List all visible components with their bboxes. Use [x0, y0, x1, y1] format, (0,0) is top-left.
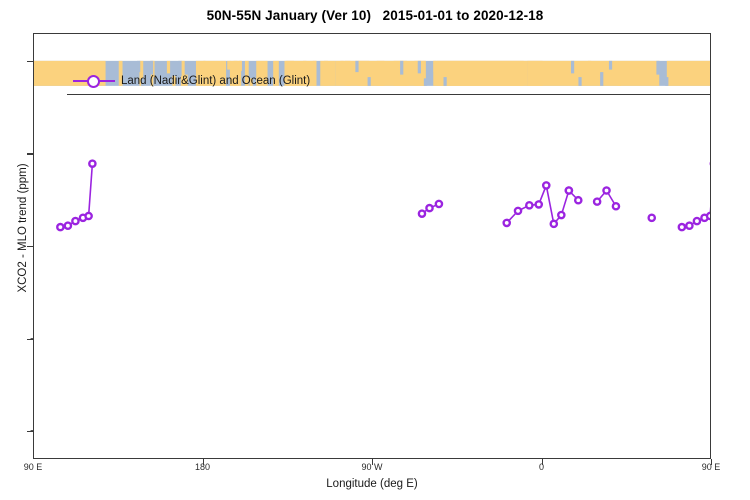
legend: Land (Nadir&Glint) and Ocean (Glint)	[67, 67, 711, 95]
data-point-marker	[613, 203, 619, 209]
data-point-marker	[65, 223, 71, 229]
x-tick-mark	[542, 459, 543, 465]
data-point-marker	[72, 218, 78, 224]
data-point-marker	[57, 224, 63, 230]
data-point-marker	[558, 212, 564, 218]
page-title: 50N-55N January (Ver 10) 2015-01-01 to 2…	[0, 8, 750, 23]
legend-item-label: Land (Nadir&Glint) and Ocean (Glint)	[121, 75, 310, 87]
x-tick-mark	[372, 459, 373, 465]
legend-swatch	[73, 73, 115, 89]
data-point-marker	[707, 213, 711, 219]
data-point-marker	[686, 223, 692, 229]
data-point-marker	[594, 199, 600, 205]
data-point-marker	[526, 202, 532, 208]
data-point-marker	[679, 224, 685, 230]
x-axis-label: Longitude (deg E)	[33, 478, 711, 490]
data-point-marker	[551, 221, 557, 227]
data-point-marker	[536, 201, 542, 207]
data-point-marker	[419, 211, 425, 217]
data-series-layer	[34, 34, 711, 459]
plot-area: Land (Nadir&Glint) and Ocean (Glint)	[33, 33, 711, 459]
data-point-marker	[86, 213, 92, 219]
data-point-marker	[515, 208, 521, 214]
data-point-marker	[575, 197, 581, 203]
data-point-marker	[566, 187, 572, 193]
data-point-marker	[694, 218, 700, 224]
data-point-marker	[89, 161, 95, 167]
data-point-marker	[649, 215, 655, 221]
data-series	[57, 161, 711, 231]
legend-item-land-ocean[interactable]: Land (Nadir&Glint) and Ocean (Glint)	[73, 71, 310, 91]
data-point-marker	[436, 201, 442, 207]
x-tick-mark	[711, 459, 712, 465]
data-point-marker	[426, 205, 432, 211]
data-point-marker	[543, 182, 549, 188]
chart-figure: 50N-55N January (Ver 10) 2015-01-01 to 2…	[0, 0, 750, 500]
x-tick-mark	[203, 459, 204, 465]
data-point-marker	[504, 220, 510, 226]
data-point-marker	[603, 187, 609, 193]
legend-circle-marker-icon	[87, 75, 100, 88]
x-tick-label: 90 E	[3, 462, 63, 472]
